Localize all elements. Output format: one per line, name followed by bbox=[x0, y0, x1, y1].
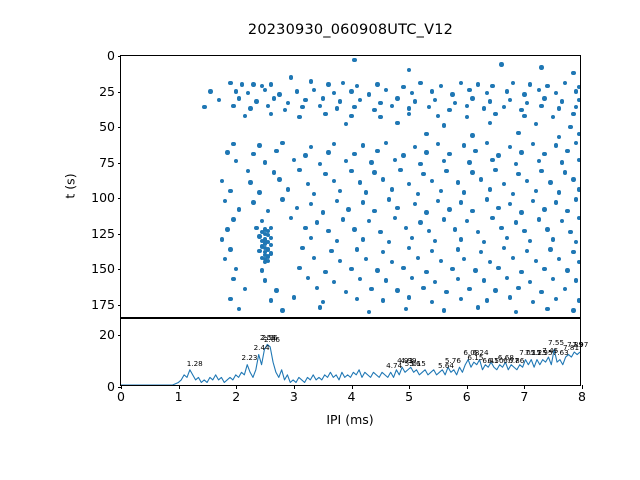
scatter-point bbox=[387, 197, 391, 201]
scatter-point bbox=[531, 199, 535, 203]
scatter-point bbox=[430, 249, 434, 253]
scatter-point bbox=[321, 96, 325, 100]
scatter-point bbox=[534, 122, 538, 126]
scatter-point bbox=[251, 200, 255, 204]
scatter-point bbox=[490, 84, 494, 88]
scatter-point bbox=[537, 88, 541, 92]
scatter-point bbox=[430, 89, 434, 93]
scatter-point bbox=[280, 197, 284, 201]
scatter-point bbox=[312, 256, 316, 260]
scatter-point bbox=[300, 246, 304, 250]
peak-label: 7.55 bbox=[548, 339, 564, 346]
scatter-point bbox=[571, 112, 575, 116]
scatter-point bbox=[297, 266, 301, 270]
y-tick-mark bbox=[118, 234, 122, 235]
scatter-point bbox=[384, 278, 388, 282]
x-tick-label: 0 bbox=[117, 391, 125, 404]
scatter-point bbox=[369, 287, 373, 291]
scatter-point bbox=[338, 259, 342, 263]
scatter-point bbox=[447, 108, 451, 112]
scatter-point bbox=[251, 82, 255, 86]
scatter-point bbox=[217, 98, 221, 102]
scatter-point bbox=[554, 91, 558, 95]
scatter-point bbox=[557, 257, 561, 261]
scatter-point bbox=[416, 256, 420, 260]
scatter-point bbox=[568, 230, 572, 234]
scatter-point bbox=[248, 180, 252, 184]
scatter-point bbox=[283, 108, 287, 112]
scatter-point bbox=[295, 89, 299, 93]
scatter-point bbox=[372, 209, 376, 213]
scatter-point bbox=[482, 240, 486, 244]
scatter-point bbox=[439, 84, 443, 88]
x-tick-label: 7 bbox=[520, 391, 528, 404]
top-panel-ylabel: t (s) bbox=[63, 173, 78, 198]
scatter-point bbox=[424, 210, 428, 214]
scatter-point bbox=[427, 229, 431, 233]
scatter-point bbox=[563, 287, 567, 291]
scatter-point bbox=[574, 89, 578, 93]
scatter-point bbox=[505, 89, 509, 93]
x-tick-mark bbox=[582, 385, 583, 389]
scatter-point bbox=[537, 217, 541, 221]
scatter-point bbox=[462, 257, 466, 261]
scatter-point bbox=[488, 99, 492, 103]
scatter-point bbox=[395, 121, 399, 125]
scatter-point bbox=[447, 152, 451, 156]
scatter-point bbox=[243, 114, 247, 118]
scatter-point bbox=[401, 153, 405, 157]
scatter-point bbox=[565, 268, 569, 272]
histogram-xlabel: IPI (ms) bbox=[326, 412, 373, 427]
scatter-point bbox=[557, 135, 561, 139]
peak-label: 2.23 bbox=[241, 354, 257, 361]
scatter-point bbox=[462, 143, 466, 147]
scatter-point bbox=[326, 150, 330, 154]
y-tick-mark bbox=[118, 127, 122, 128]
scatter-point bbox=[424, 270, 428, 274]
scatter-point bbox=[332, 179, 336, 183]
scatter-point bbox=[375, 268, 379, 272]
scatter-point bbox=[542, 152, 546, 156]
scatter-point bbox=[467, 287, 471, 291]
y-tick-mark bbox=[118, 269, 122, 270]
scatter-point bbox=[407, 68, 411, 72]
scatter-point bbox=[272, 96, 276, 100]
scatter-point bbox=[548, 247, 552, 251]
scatter-point bbox=[361, 200, 365, 204]
scatter-point bbox=[433, 280, 437, 284]
scatter-point bbox=[220, 179, 224, 183]
scatter-point bbox=[318, 104, 322, 108]
scatter-point bbox=[277, 177, 281, 181]
scatter-point bbox=[231, 217, 235, 221]
scatter-point bbox=[378, 101, 382, 105]
peak-label: 2.66 bbox=[264, 336, 280, 343]
scatter-point bbox=[444, 290, 448, 294]
scatter-point bbox=[571, 250, 575, 254]
scatter-point bbox=[223, 257, 227, 261]
scatter-point bbox=[551, 237, 555, 241]
scatter-point bbox=[476, 305, 480, 309]
scatter-point bbox=[488, 187, 492, 191]
scatter-point bbox=[502, 182, 506, 186]
x-tick-mark bbox=[352, 385, 353, 389]
scatter-point bbox=[485, 91, 489, 95]
scatter-point bbox=[554, 297, 558, 301]
scatter-point bbox=[292, 295, 296, 299]
scatter-point bbox=[467, 160, 471, 164]
scatter-point bbox=[442, 123, 446, 127]
scatter-point bbox=[545, 307, 549, 311]
scatter-point bbox=[456, 180, 460, 184]
scatter-point bbox=[352, 58, 356, 62]
x-tick-mark bbox=[467, 385, 468, 389]
scatter-point bbox=[257, 190, 261, 194]
scatter-point bbox=[321, 300, 325, 304]
scatter-point bbox=[519, 210, 523, 214]
scatter-point bbox=[542, 96, 546, 100]
scatter-point bbox=[565, 149, 569, 153]
scatter-point bbox=[459, 297, 463, 301]
scatter-point bbox=[511, 81, 515, 85]
scatter-point bbox=[335, 199, 339, 203]
scatter-point bbox=[516, 131, 520, 135]
scatter-point bbox=[269, 82, 273, 86]
scatter-point bbox=[231, 277, 235, 281]
scatter-point bbox=[539, 104, 543, 108]
figure-title: 20230930_060908UTC_V12 bbox=[120, 22, 581, 38]
scatter-point bbox=[571, 308, 575, 312]
scatter-point bbox=[384, 88, 388, 92]
scatter-point bbox=[401, 266, 405, 270]
scatter-point bbox=[246, 169, 250, 173]
y-tick-mark bbox=[118, 387, 122, 388]
scatter-point bbox=[418, 220, 422, 224]
scatter-point bbox=[528, 280, 532, 284]
scatter-point bbox=[577, 187, 580, 191]
scatter-point bbox=[344, 159, 348, 163]
scatter-point bbox=[407, 182, 411, 186]
scatter-point bbox=[490, 158, 494, 162]
scatter-point bbox=[321, 210, 325, 214]
scatter-point bbox=[548, 180, 552, 184]
scatter-point bbox=[344, 290, 348, 294]
y-tick-mark bbox=[118, 92, 122, 93]
scatter-point bbox=[280, 308, 284, 312]
scatter-point bbox=[355, 84, 359, 88]
scatter-point bbox=[266, 209, 270, 213]
scatter-point bbox=[522, 229, 526, 233]
scatter-point bbox=[384, 141, 388, 145]
scatter-point bbox=[470, 133, 474, 137]
scatter-point bbox=[574, 105, 578, 109]
scatter-point bbox=[427, 105, 431, 109]
scatter-point bbox=[519, 108, 523, 112]
scatter-point bbox=[499, 226, 503, 230]
scatter-point bbox=[361, 143, 365, 147]
y-tick-label: 25 bbox=[99, 85, 115, 98]
scatter-point bbox=[358, 98, 362, 102]
scatter-point bbox=[274, 288, 278, 292]
scatter-point bbox=[202, 105, 206, 109]
scatter-point bbox=[560, 160, 564, 164]
scatter-point bbox=[554, 143, 558, 147]
scatter-point bbox=[225, 227, 229, 231]
scatter-point bbox=[516, 286, 520, 290]
scatter-point bbox=[568, 125, 572, 129]
scatter-point bbox=[306, 276, 310, 280]
y-tick-label: 75 bbox=[99, 156, 115, 169]
peak-label: 5.76 bbox=[445, 357, 461, 364]
scatter-point bbox=[237, 96, 241, 100]
scatter-point bbox=[395, 288, 399, 292]
scatter-point bbox=[508, 202, 512, 206]
scatter-point bbox=[470, 96, 474, 100]
scatter-point bbox=[263, 260, 267, 264]
scatter-point bbox=[430, 300, 434, 304]
scatter-point bbox=[493, 112, 497, 116]
scatter-point bbox=[465, 219, 469, 223]
scatter-point bbox=[551, 115, 555, 119]
scatter-point bbox=[395, 96, 399, 100]
scatter-point bbox=[499, 62, 503, 66]
scatter-point bbox=[390, 260, 394, 264]
scatter-point bbox=[534, 259, 538, 263]
scatter-point bbox=[223, 199, 227, 203]
x-tick-label: 4 bbox=[348, 391, 356, 404]
scatter-point bbox=[318, 305, 322, 309]
scatter-point bbox=[413, 202, 417, 206]
scatter-point bbox=[257, 249, 261, 253]
scatter-point bbox=[404, 307, 408, 311]
scatter-point bbox=[289, 75, 293, 79]
scatter-point bbox=[418, 81, 422, 85]
scatter-point bbox=[274, 149, 278, 153]
scatter-point bbox=[473, 268, 477, 272]
scatter-point bbox=[234, 159, 238, 163]
scatter-point bbox=[323, 172, 327, 176]
scatter-point bbox=[297, 168, 301, 172]
scatter-point bbox=[349, 267, 353, 271]
scatter-point bbox=[505, 236, 509, 240]
scatter-point bbox=[577, 158, 580, 162]
scatter-point bbox=[234, 267, 238, 271]
scatter-point bbox=[539, 65, 543, 69]
scatter-point bbox=[577, 98, 580, 102]
scatter-point bbox=[367, 310, 371, 314]
scatter-point bbox=[574, 278, 578, 282]
scatter-point bbox=[502, 105, 506, 109]
scatter-point bbox=[505, 276, 509, 280]
scatter-point bbox=[442, 159, 446, 163]
scatter-point bbox=[577, 260, 580, 264]
x-tick-mark bbox=[236, 385, 237, 389]
scatter-point bbox=[404, 226, 408, 230]
x-tick-mark bbox=[121, 385, 122, 389]
scatter-point bbox=[514, 310, 518, 314]
scatter-point bbox=[367, 219, 371, 223]
scatter-point bbox=[225, 150, 229, 154]
scatter-point bbox=[456, 277, 460, 281]
scatter-point bbox=[234, 89, 238, 93]
scatter-point bbox=[410, 276, 414, 280]
scatter-point bbox=[266, 104, 270, 108]
scatter-point bbox=[395, 206, 399, 210]
histogram-panel: 012345678020 1.282.232.442.552.562.664.7… bbox=[120, 318, 581, 386]
scatter-point bbox=[390, 187, 394, 191]
scatter-point bbox=[341, 81, 345, 85]
histogram-line bbox=[121, 319, 580, 385]
scatter-point bbox=[269, 112, 273, 116]
scatter-point bbox=[349, 89, 353, 93]
scatter-point bbox=[525, 249, 529, 253]
scatter-point bbox=[332, 142, 336, 146]
scatter-point bbox=[571, 177, 575, 181]
scatter-point bbox=[231, 104, 235, 108]
scatter-point bbox=[326, 229, 330, 233]
scatter-point bbox=[329, 249, 333, 253]
scatter-point bbox=[436, 114, 440, 118]
scatter-point bbox=[563, 170, 567, 174]
scatter-point bbox=[349, 114, 353, 118]
scatter-point bbox=[511, 256, 515, 260]
x-tick-label: 5 bbox=[405, 391, 413, 404]
scatter-point bbox=[545, 84, 549, 88]
scatter-point bbox=[260, 268, 264, 272]
scatter-point bbox=[514, 220, 518, 224]
scatter-point bbox=[433, 98, 437, 102]
scatter-point bbox=[508, 295, 512, 299]
scatter-point bbox=[367, 92, 371, 96]
scatter-point bbox=[335, 239, 339, 243]
scatter-point bbox=[355, 297, 359, 301]
scatter-point bbox=[401, 85, 405, 89]
x-tick-label: 1 bbox=[175, 391, 183, 404]
scatter-point bbox=[485, 197, 489, 201]
scatter-point bbox=[228, 81, 232, 85]
scatter-point bbox=[459, 200, 463, 204]
scatter-point bbox=[557, 106, 561, 110]
scatter-point bbox=[534, 189, 538, 193]
scatter-point bbox=[514, 162, 518, 166]
scatter-point bbox=[424, 132, 428, 136]
scatter-point bbox=[577, 132, 580, 136]
scatter-point bbox=[410, 91, 414, 95]
scatter-point bbox=[286, 101, 290, 105]
scatter-point bbox=[300, 105, 304, 109]
scatter-point bbox=[338, 99, 342, 103]
scatter-point bbox=[335, 106, 339, 110]
scatter-point bbox=[393, 158, 397, 162]
scatter-point bbox=[421, 286, 425, 290]
scatter-point bbox=[280, 141, 284, 145]
scatter-point bbox=[361, 237, 365, 241]
scatter-point bbox=[482, 278, 486, 282]
scatter-point bbox=[315, 220, 319, 224]
scatter-point bbox=[418, 162, 422, 166]
scatter-point bbox=[375, 82, 379, 86]
scatter-point bbox=[442, 217, 446, 221]
scatter-point bbox=[372, 170, 376, 174]
scatter-point bbox=[537, 159, 541, 163]
scatter-point bbox=[240, 82, 244, 86]
scatter-point bbox=[292, 158, 296, 162]
scatter-point bbox=[442, 308, 446, 312]
scatter-point bbox=[470, 170, 474, 174]
peak-label: 1.28 bbox=[187, 360, 203, 367]
scatter-point bbox=[228, 247, 232, 251]
scatter-point bbox=[528, 239, 532, 243]
y-tick-mark bbox=[118, 56, 122, 57]
scatter-point bbox=[560, 219, 564, 223]
scatter-point bbox=[531, 142, 535, 146]
scatter-point bbox=[476, 230, 480, 234]
scatter-point bbox=[485, 298, 489, 302]
scatter-point bbox=[493, 168, 497, 172]
scatter-point bbox=[269, 298, 273, 302]
scatter-point bbox=[318, 162, 322, 166]
scatter-point bbox=[372, 108, 376, 112]
scatter-point bbox=[416, 192, 420, 196]
scatter-point bbox=[542, 207, 546, 211]
scatter-point bbox=[439, 189, 443, 193]
scatter-point bbox=[470, 209, 474, 213]
scatter-point bbox=[228, 189, 232, 193]
y-tick-label: 0 bbox=[107, 381, 115, 394]
scatter-point bbox=[355, 247, 359, 251]
scatter-point bbox=[554, 200, 558, 204]
scatter-point bbox=[574, 197, 578, 201]
x-tick-label: 2 bbox=[232, 391, 240, 404]
scatter-point bbox=[358, 277, 362, 281]
y-tick-label: 100 bbox=[91, 192, 115, 205]
scatter-point bbox=[220, 237, 224, 241]
scatter-point bbox=[390, 104, 394, 108]
scatter-point bbox=[465, 115, 469, 119]
scatter-point bbox=[237, 207, 241, 211]
scatter-point bbox=[413, 145, 417, 149]
scatter-point bbox=[560, 99, 564, 103]
scatter-point bbox=[450, 92, 454, 96]
scatter-point bbox=[485, 141, 489, 145]
scatter-point bbox=[341, 217, 345, 221]
scatter-point bbox=[444, 169, 448, 173]
scatter-point bbox=[254, 99, 258, 103]
scatter-point bbox=[421, 172, 425, 176]
scatter-point bbox=[407, 295, 411, 299]
scatter-point bbox=[459, 81, 463, 85]
scatter-point bbox=[508, 145, 512, 149]
y-tick-mark bbox=[118, 305, 122, 306]
y-tick-mark bbox=[118, 198, 122, 199]
scatter-point bbox=[349, 169, 353, 173]
y-tick-label: 20 bbox=[99, 328, 115, 341]
scatter-point bbox=[248, 106, 252, 110]
scatter-point bbox=[332, 280, 336, 284]
scatter-point bbox=[467, 88, 471, 92]
scatter-points-layer bbox=[121, 56, 580, 317]
histogram-line-layer bbox=[121, 319, 580, 385]
scatter-point bbox=[508, 98, 512, 102]
scatter-point bbox=[312, 88, 316, 92]
scatter-point bbox=[433, 239, 437, 243]
scatter-point bbox=[574, 240, 578, 244]
scatter-point bbox=[323, 270, 327, 274]
scatter-point bbox=[387, 240, 391, 244]
scatter-point bbox=[369, 160, 373, 164]
scatter-point bbox=[531, 300, 535, 304]
